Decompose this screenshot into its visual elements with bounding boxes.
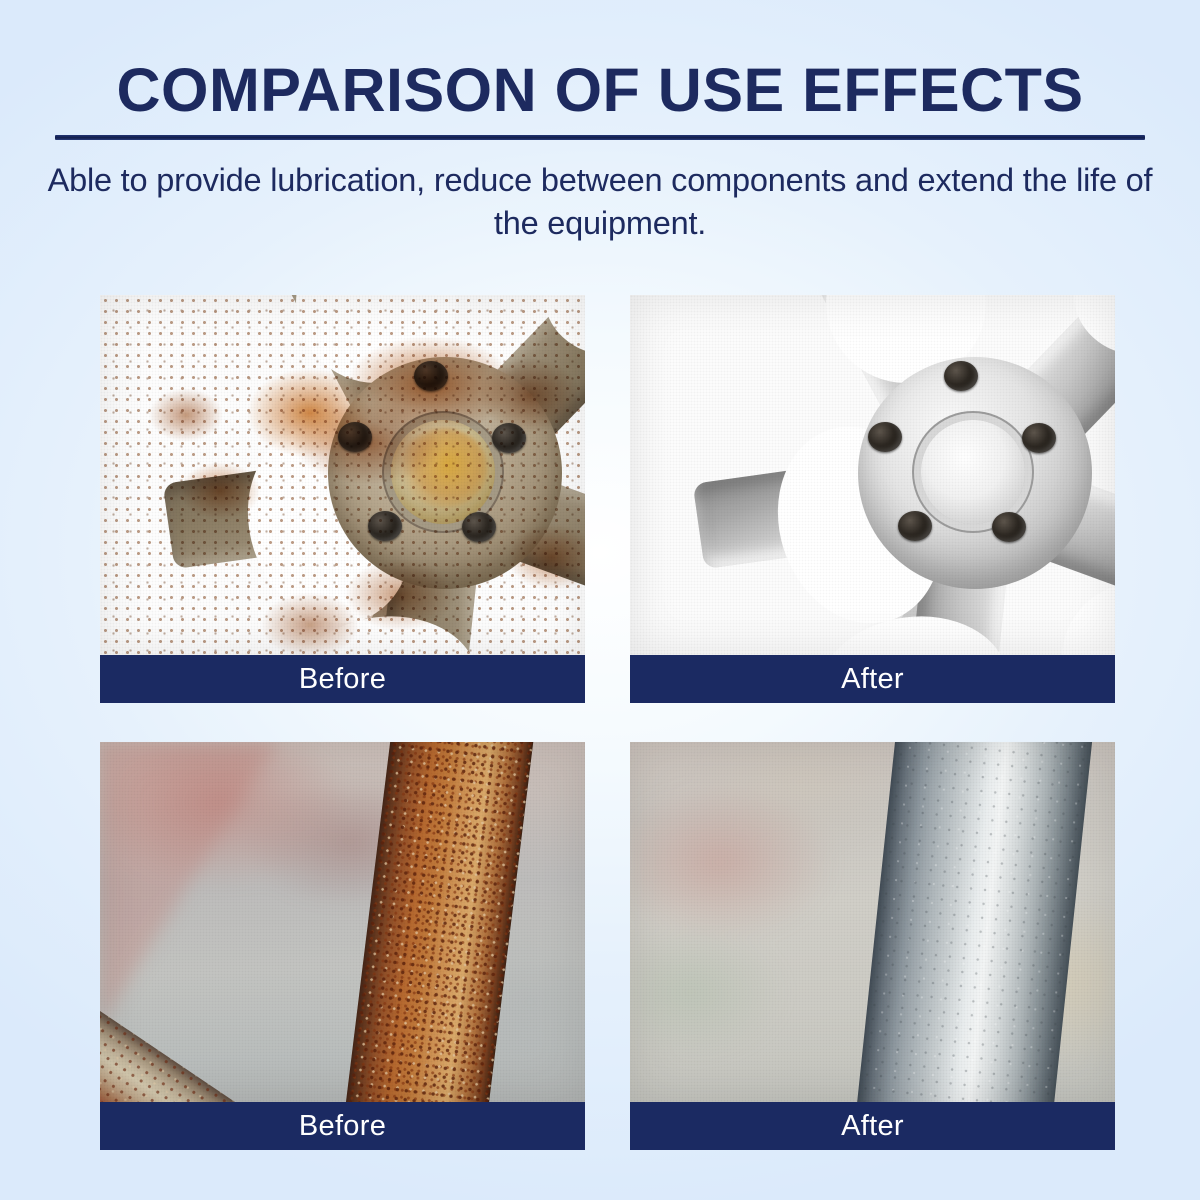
comparison-card-pipe-before: Before xyxy=(100,742,585,1150)
photo-clean-pipes xyxy=(630,742,1115,1102)
label-bar-before-wheel: Before xyxy=(100,655,585,703)
photo-rusty-pipes xyxy=(100,742,585,1102)
label-bar-after-pipe: After xyxy=(630,1102,1115,1150)
header: COMPARISON OF USE EFFECTS Able to provid… xyxy=(0,0,1200,245)
label-bar-before-pipe: Before xyxy=(100,1102,585,1150)
comparison-label: After xyxy=(841,663,904,696)
comparison-grid: Before xyxy=(100,295,1105,1150)
photo-clean-wheel xyxy=(630,295,1115,655)
comparison-card-pipe-after: After xyxy=(630,742,1115,1150)
comparison-card-wheel-after: After xyxy=(630,295,1115,703)
title-divider xyxy=(55,135,1145,140)
photo-rusty-wheel xyxy=(100,295,585,655)
page-title: COMPARISON OF USE EFFECTS xyxy=(0,58,1200,122)
comparison-label: After xyxy=(841,1110,904,1143)
label-bar-after-wheel: After xyxy=(630,655,1115,703)
comparison-label: Before xyxy=(299,663,386,696)
promo-infographic: COMPARISON OF USE EFFECTS Able to provid… xyxy=(0,0,1200,245)
page-subtitle: Able to provide lubrication, reduce betw… xyxy=(45,159,1155,245)
comparison-card-wheel-before: Before xyxy=(100,295,585,703)
comparison-label: Before xyxy=(299,1110,386,1143)
